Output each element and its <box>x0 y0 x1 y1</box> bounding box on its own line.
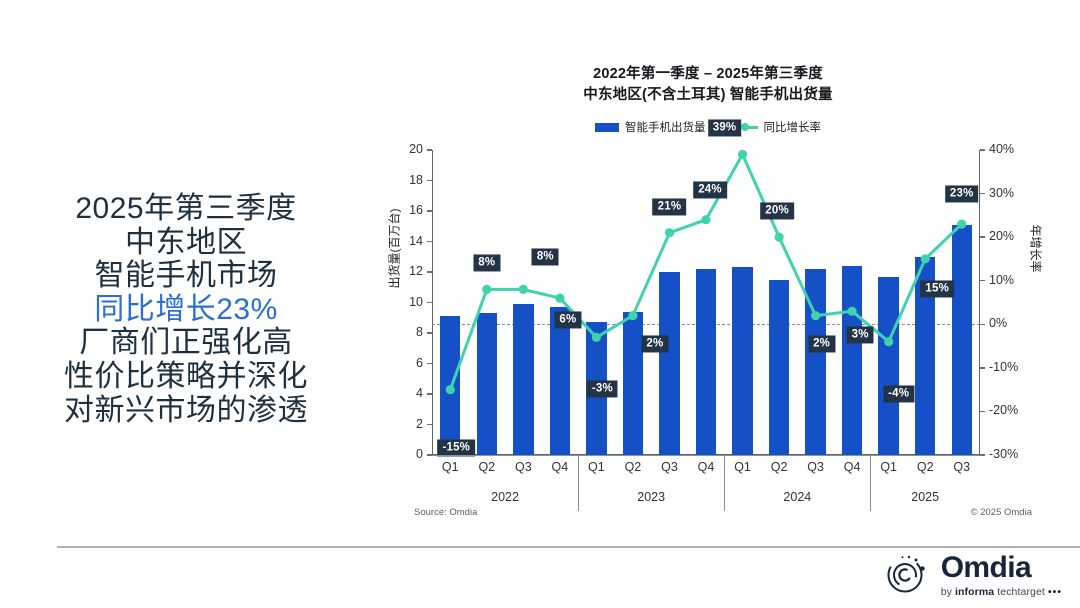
y-tick-label-left: 4 <box>416 386 423 400</box>
source-note: Source: Omdia <box>414 507 477 518</box>
tagline-prefix: by <box>941 586 955 598</box>
plot-area: 02468101214161820 -30%-20%-10%0%10%20%30… <box>432 150 980 455</box>
growth-data-label: 21% <box>653 198 687 215</box>
legend-label-growth: 同比增长率 <box>764 119 822 135</box>
y-tick-right <box>980 454 985 455</box>
growth-data-point[interactable] <box>848 307 857 316</box>
y-tick-label-left: 6 <box>416 356 423 370</box>
x-axis-year-label: 2025 <box>911 490 939 504</box>
growth-data-point[interactable] <box>665 228 674 237</box>
omdia-name: Omdia <box>941 553 1062 583</box>
headline-text-block: 2025年第三季度中东地区智能手机市场同比增长23%厂商们正强化高性价比策略并深… <box>0 192 372 427</box>
omdia-tagline: by informa techtarget ••• <box>941 587 1062 598</box>
legend-label-shipments: 智能手机出货量 <box>625 119 706 135</box>
y-tick-right <box>980 149 985 150</box>
y-tick-label-right: 20% <box>989 229 1014 243</box>
x-axis-group-separator <box>724 455 725 511</box>
x-axis-quarter-label: Q1 <box>734 460 751 474</box>
chart-title: 2022年第一季度 – 2025年第三季度 中东地区(不含土耳其) 智能手机出货… <box>378 64 1038 106</box>
x-axis-quarter-label: Q3 <box>661 460 678 474</box>
y-tick-right <box>980 324 985 325</box>
copyright-note: © 2025 Omdia <box>971 507 1032 518</box>
growth-data-point[interactable] <box>592 333 601 342</box>
y-tick-label-right: -10% <box>989 360 1018 374</box>
x-axis-quarter-label: Q3 <box>953 460 970 474</box>
chart-panel: 2022年第一季度 – 2025年第三季度 中东地区(不含土耳其) 智能手机出货… <box>378 52 1038 532</box>
growth-data-point[interactable] <box>775 233 784 242</box>
x-axis-quarter-label: Q1 <box>442 460 459 474</box>
growth-data-point[interactable] <box>921 254 930 263</box>
legend-item-shipments[interactable]: 智能手机出货量 <box>595 119 706 135</box>
x-axis-group-separator <box>578 455 579 511</box>
growth-data-label: 39% <box>708 120 742 137</box>
headline-line-6: 性价比策略并深化 <box>0 360 372 394</box>
growth-data-label: 2% <box>641 335 668 352</box>
growth-data-point[interactable] <box>701 215 710 224</box>
y-tick-label-left: 18 <box>409 173 423 187</box>
growth-data-point[interactable] <box>884 337 893 346</box>
x-axis-year-labels: 2022202320242025 <box>432 483 980 513</box>
growth-data-label: 24% <box>693 181 727 198</box>
x-axis-quarter-label: Q3 <box>807 460 824 474</box>
legend-bar-swatch-icon <box>595 123 619 132</box>
omdia-wordmark: Omdia by informa techtarget ••• <box>941 553 1062 598</box>
headline-line-5: 厂商们正强化高 <box>0 326 372 360</box>
y-tick-right <box>980 280 985 281</box>
growth-data-point[interactable] <box>628 311 637 320</box>
y-tick-right <box>980 236 985 237</box>
growth-data-point[interactable] <box>957 220 966 229</box>
chart-title-line2: 中东地区(不含土耳其) 智能手机出货量 <box>378 85 1038 106</box>
x-axis-quarter-label: Q2 <box>771 460 788 474</box>
x-axis-quarter-label: Q1 <box>588 460 605 474</box>
y-axis-right-label: 年增长率 <box>1028 189 1045 309</box>
y-tick-label-right: 40% <box>989 142 1014 156</box>
y-tick-label-right: 0% <box>989 316 1007 330</box>
growth-data-label: 3% <box>847 327 874 344</box>
plot-area-wrapper: 出货量(百万台) 年增长率 02468101214161820 -30%-20%… <box>378 144 1038 462</box>
x-axis-quarter-label: Q2 <box>625 460 642 474</box>
growth-data-point[interactable] <box>811 311 820 320</box>
growth-data-label: -4% <box>883 385 914 402</box>
growth-data-point[interactable] <box>555 294 564 303</box>
headline-line-7: 对新兴市场的渗透 <box>0 394 372 428</box>
omdia-mark-icon <box>884 552 930 598</box>
x-axis-quarter-label: Q1 <box>880 460 897 474</box>
y-tick-label-left: 0 <box>416 447 423 461</box>
y-tick-label-left: 12 <box>409 264 423 278</box>
tagline-dots: ••• <box>1048 586 1062 598</box>
tagline-brand: informa <box>955 586 994 598</box>
growth-data-label: 2% <box>808 335 835 352</box>
y-tick-right <box>980 411 985 412</box>
growth-data-label: 23% <box>945 186 979 203</box>
x-axis-quarter-label: Q2 <box>478 460 495 474</box>
x-axis-quarter-label: Q4 <box>844 460 861 474</box>
growth-data-label: -3% <box>587 381 618 398</box>
legend-item-growth[interactable]: 同比增长率 <box>732 119 822 135</box>
y-tick-label-right: 30% <box>989 186 1014 200</box>
y-tick-label-right: 10% <box>989 273 1014 287</box>
growth-data-label: 8% <box>532 249 559 266</box>
x-axis-quarter-labels: Q1Q2Q3Q4Q1Q2Q3Q4Q1Q2Q3Q4Q1Q2Q3 <box>432 455 980 483</box>
y-tick-right <box>980 193 985 194</box>
y-tick-label-right: -30% <box>989 447 1018 461</box>
headline-line-3: 智能手机市场 <box>0 259 372 293</box>
headline-line-1: 2025年第三季度 <box>0 192 372 226</box>
growth-data-point[interactable] <box>738 150 747 159</box>
y-tick-label-left: 8 <box>416 325 423 339</box>
headline-line-2: 中东地区 <box>0 226 372 260</box>
y-tick-label-left: 16 <box>409 203 423 217</box>
growth-data-point[interactable] <box>482 285 491 294</box>
x-axis-quarter-label: Q3 <box>515 460 532 474</box>
y-axis-left-label: 出货量(百万台) <box>386 189 403 309</box>
growth-data-label: 8% <box>473 255 500 272</box>
growth-data-point[interactable] <box>446 385 455 394</box>
growth-data-label: 20% <box>760 203 794 220</box>
x-axis-quarter-label: Q2 <box>917 460 934 474</box>
x-axis: Q1Q2Q3Q4Q1Q2Q3Q4Q1Q2Q3Q4Q1Q2Q3 202220232… <box>432 455 980 513</box>
x-axis-year-label: 2024 <box>783 490 811 504</box>
y-tick-label-left: 20 <box>409 142 423 156</box>
x-axis-year-label: 2023 <box>637 490 665 504</box>
x-axis-year-label: 2022 <box>491 490 519 504</box>
y-tick-label-left: 14 <box>409 234 423 248</box>
growth-data-label: 15% <box>920 280 954 297</box>
growth-data-label: -15% <box>437 439 475 456</box>
omdia-logo: Omdia by informa techtarget ••• <box>884 552 1062 598</box>
growth-data-label: 6% <box>554 312 581 329</box>
slide-canvas: 2025年第三季度中东地区智能手机市场同比增长23%厂商们正强化高性价比策略并深… <box>0 0 1080 608</box>
growth-data-point[interactable] <box>519 285 528 294</box>
x-axis-quarter-label: Q4 <box>552 460 569 474</box>
tagline-suffix: techtarget <box>994 586 1045 598</box>
x-axis-quarter-label: Q4 <box>698 460 715 474</box>
chart-title-line1: 2022年第一季度 – 2025年第三季度 <box>378 64 1038 85</box>
y-tick-label-right: -20% <box>989 403 1018 417</box>
footer-divider <box>57 546 1080 548</box>
y-tick-label-left: 2 <box>416 417 423 431</box>
y-tick-label-left: 10 <box>409 295 423 309</box>
y-tick-right <box>980 367 985 368</box>
headline-line-4: 同比增长23% <box>0 293 372 327</box>
x-axis-group-separator <box>870 455 871 511</box>
